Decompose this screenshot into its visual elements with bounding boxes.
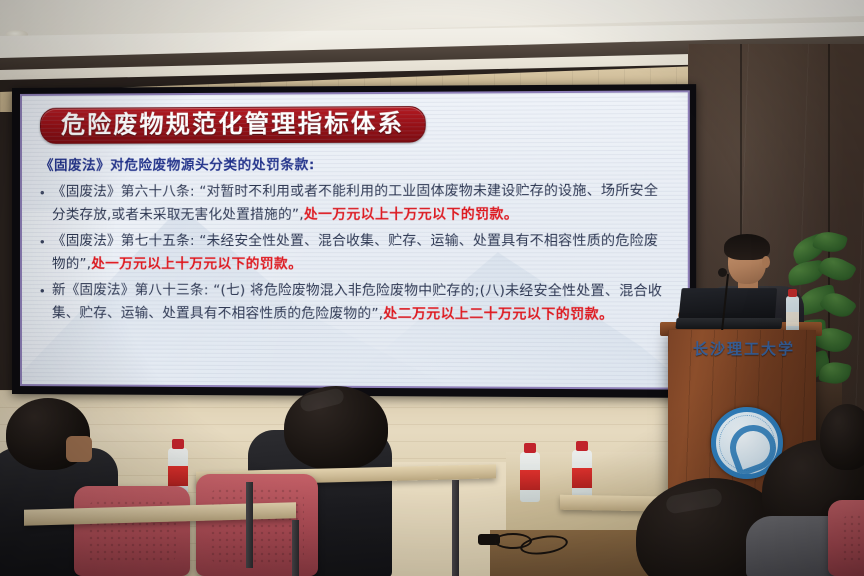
audience-chair [828, 500, 864, 576]
slide-subtitle: 《固废法》对危险废物源头分类的处罚条款: [40, 152, 671, 174]
bottle-label [168, 466, 188, 486]
laptop-screen [678, 288, 777, 320]
presentation-slide: 危险废物规范化管理指标体系 《固废法》对危险废物源头分类的处罚条款: • 《固废… [22, 92, 688, 387]
water-bottle [572, 450, 592, 500]
bullet-marker-icon: • [40, 181, 52, 204]
slide-bullet-item: • 新《固废法》第八十三条: “(七) 将危险废物混入非危险废物中贮存的;(八)… [40, 279, 671, 327]
bullet-text: 《固废法》第七十五条: “未经安全性处置、混合收集、贮存、运输、处置具有不相容性… [52, 230, 671, 277]
bottle-cap [576, 441, 588, 451]
bullet-marker-icon: • [40, 230, 52, 253]
microphone-head-icon [718, 268, 727, 277]
slide-bullet-list: • 《固废法》第六十八条: “对暂时不利用或者不能利用的工业固体废物未建设贮存的… [40, 180, 671, 328]
desk-leg [292, 520, 299, 576]
bullet-text-highlight: 处二万元以上二十万元以下的罚款。 [383, 306, 613, 323]
bullet-marker-icon: • [40, 279, 52, 302]
bottle-label [572, 468, 592, 488]
slide-content: 危险废物规范化管理指标体系 《固废法》对危险废物源头分类的处罚条款: • 《固废… [22, 92, 688, 387]
presenter-ear [762, 256, 770, 268]
water-bottle [520, 452, 540, 502]
desk-leg [452, 480, 459, 576]
bottle-cap [524, 443, 536, 453]
slide-bullet-item: • 《固废法》第七十五条: “未经安全性处置、混合收集、贮存、运输、处置具有不相… [40, 230, 671, 277]
slide-title: 危险废物规范化管理指标体系 [61, 109, 404, 139]
slide-title-banner: 危险废物规范化管理指标体系 [40, 106, 426, 144]
desk-leg [246, 482, 253, 568]
plant-leaf [817, 251, 857, 286]
slide-bullet-item: • 《固废法》第六十八条: “对暂时不利用或者不能利用的工业固体废物未建设贮存的… [40, 180, 671, 227]
bottle-label [520, 470, 540, 490]
bottle-cap [788, 289, 797, 297]
bottle-label [786, 312, 799, 326]
presentation-room-photo: 危险废物规范化管理指标体系 《固废法》对危险废物源头分类的处罚条款: • 《固废… [0, 0, 864, 576]
screen-inner-border: 危险废物规范化管理指标体系 《固废法》对危险废物源头分类的处罚条款: • 《固废… [20, 90, 690, 389]
attendee-hair [820, 404, 864, 470]
bullet-text: 新《固废法》第八十三条: “(七) 将危险废物混入非危险废物中贮存的;(八)未经… [52, 279, 671, 327]
podium-university-name: 长沙理工大学 [676, 338, 812, 359]
audience-chair [196, 474, 318, 576]
bullet-text: 《固废法》第六十八条: “对暂时不利用或者不能利用的工业固体废物未建设贮存的设施… [52, 180, 671, 227]
laptop-keyboard [675, 318, 782, 329]
bullet-text-highlight: 处一万元以上十万元以下的罚款。 [304, 207, 518, 223]
attendee-face [66, 436, 92, 462]
audience-chair [74, 486, 190, 576]
bullet-text-highlight: 处一万元以上十万元以下的罚款。 [91, 256, 302, 272]
bottle-cap [172, 439, 184, 449]
projection-screen: 危险废物规范化管理指标体系 《固废法》对危险废物源头分类的处罚条款: • 《固废… [12, 84, 696, 398]
